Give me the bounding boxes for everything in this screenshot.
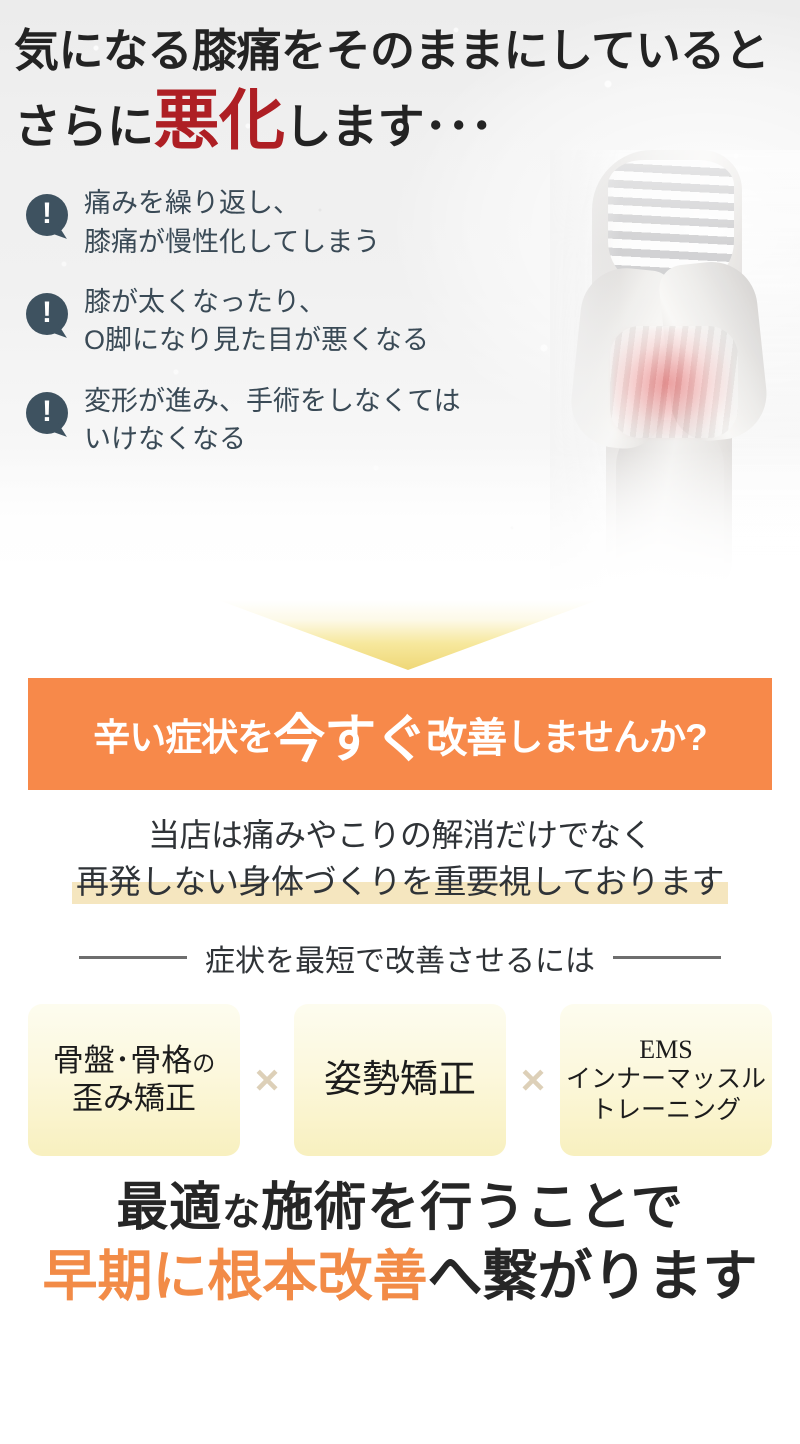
hero-headline-line2-prefix: さらに (14, 100, 154, 153)
divider-line-right (613, 956, 721, 959)
hero-headline-line1: 気になる膝痛をそのままにしていると (14, 28, 800, 73)
card-posture[interactable]: 姿勢矯正 (294, 1004, 506, 1156)
promise-line2-wrapper: 再発しない身体づくりを重要視しております (72, 862, 728, 902)
card-ems-line2: インナーマッスル (566, 1065, 766, 1096)
list-item-line1: 膝が太くなったり、 (84, 287, 326, 317)
section-divider: 症状を最短で改善させるには (0, 936, 800, 980)
card-ems[interactable]: EMS インナーマッスル トレーニング (560, 1004, 772, 1156)
promise-text: 当店は痛みやこりの解消だけでなく 再発しない身体づくりを重要視しております (0, 816, 800, 902)
promise-line1: 当店は痛みやこりの解消だけでなく (0, 816, 800, 854)
cta-banner-part-b: 改善 (426, 704, 506, 764)
card-pelvis-line1: 骨盤･骨格 (53, 1043, 193, 1078)
hero-headline-line2: さらに悪化します･･･ (14, 91, 800, 150)
list-item-text: 変形が進み、手術をしなくては いけなくなる (84, 382, 461, 459)
closing-headline-line1-particle: な (222, 1192, 261, 1234)
landing-page: 気になる膝痛をそのままにしていると さらに悪化します･･･ ! 痛みを繰り返し、… (0, 0, 800, 1444)
method-card-list: 骨盤･骨格の 歪み矯正 × 姿勢矯正 × EMS インナーマッスル トレーニング (0, 1004, 800, 1156)
exclamation-bubble-icon: ! (26, 194, 68, 236)
hero-headline-emphasis-red: 悪化 (154, 83, 285, 157)
list-item-line2: いけなくなる (84, 424, 246, 454)
list-item-line1: 変形が進み、手術をしなくては (84, 386, 461, 416)
card-pelvis-line2: 歪み矯正 (72, 1081, 196, 1116)
exclamation-bubble-icon: ! (26, 293, 68, 335)
closing-headline-line2: 早期に根本改善へ繋がります (0, 1245, 800, 1310)
cta-banner-part-c: しませんか? (506, 707, 707, 761)
list-item-text: 膝が太くなったり、 O脚になり見た目が悪くなる (84, 283, 429, 360)
exclamation-bubble-icon: ! (26, 392, 68, 434)
closing-headline-dark: へ繋がります (428, 1246, 758, 1307)
hero-headline: 気になる膝痛をそのままにしていると さらに悪化します･･･ (0, 0, 800, 150)
card-pelvis-line1-suffix: の (192, 1051, 215, 1076)
closing-headline-orange-a: 早期 (42, 1246, 152, 1307)
closing-headline-orange-b: 根本改善 (208, 1246, 428, 1307)
hero-section: 気になる膝痛をそのままにしていると さらに悪化します･･･ ! 痛みを繰り返し、… (0, 0, 800, 600)
down-arrow-icon (218, 600, 598, 670)
risk-bullet-list: ! 痛みを繰り返し、 膝痛が慢性化してしまう ! 膝が太くなったり、 O脚になり… (26, 184, 800, 458)
divider-label: 症状を最短で改善させるには (205, 936, 595, 980)
times-separator-icon: × (240, 1004, 294, 1156)
closing-headline-line1-b: 施術を行うことで (261, 1180, 683, 1237)
closing-headline-line1: 最適な施術を行うことで (0, 1178, 800, 1239)
list-item: ! 痛みを繰り返し、 膝痛が慢性化してしまう (26, 184, 800, 261)
card-posture-label: 姿勢矯正 (324, 1057, 476, 1103)
closing-headline-orange-particle: に (152, 1246, 207, 1307)
closing-headline-line1-a: 最適 (116, 1180, 222, 1237)
list-item-line2: O脚になり見た目が悪くなる (84, 325, 429, 355)
card-ems-line3: トレーニング (566, 1096, 766, 1127)
divider-line-left (79, 956, 187, 959)
hero-headline-line2-suffix: します･･･ (285, 100, 494, 153)
arrow-separator (0, 600, 800, 678)
list-item: ! 変形が進み、手術をしなくては いけなくなる (26, 382, 800, 459)
card-ems-line1: EMS (566, 1034, 766, 1066)
times-separator-icon: × (506, 1004, 560, 1156)
list-item: ! 膝が太くなったり、 O脚になり見た目が悪くなる (26, 283, 800, 360)
cta-banner-emphasis: 今すぐ (273, 697, 426, 772)
promise-line2: 再発しない身体づくりを重要視しております (72, 863, 728, 900)
list-item-line2: 膝痛が慢性化してしまう (84, 227, 380, 257)
closing-headline: 最適な施術を行うことで 早期に根本改善へ繋がります (0, 1178, 800, 1310)
cta-banner-part-a: 辛い症状を (93, 707, 273, 761)
list-item-text: 痛みを繰り返し、 膝痛が慢性化してしまう (84, 184, 380, 261)
list-item-line1: 痛みを繰り返し、 (84, 188, 300, 218)
card-pelvis[interactable]: 骨盤･骨格の 歪み矯正 (28, 1004, 240, 1156)
cta-banner[interactable]: 辛い症状を今すぐ改善しませんか? (28, 678, 772, 790)
